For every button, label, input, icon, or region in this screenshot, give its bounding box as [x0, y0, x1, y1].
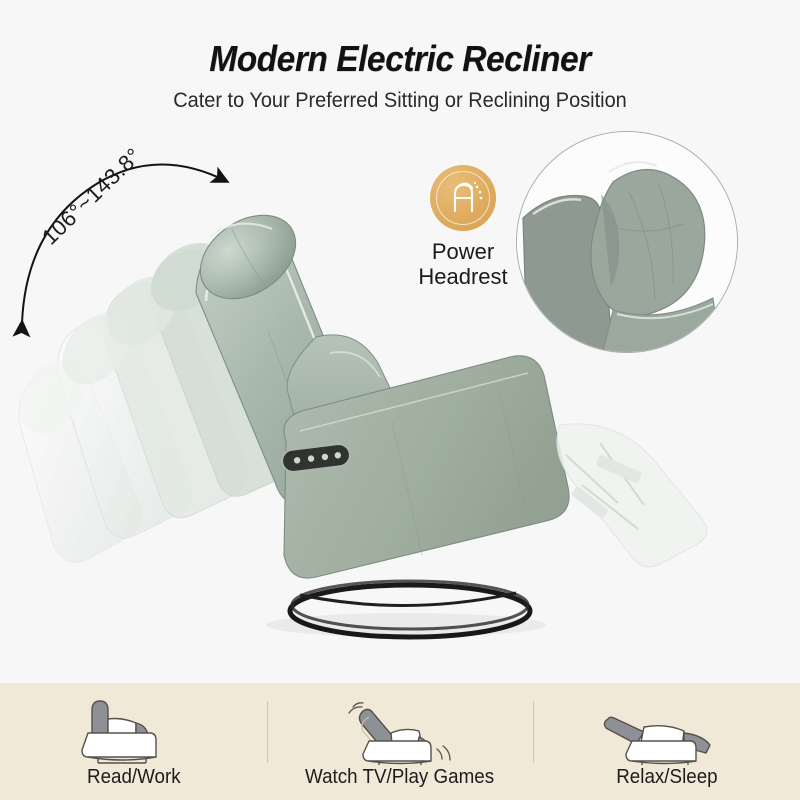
power-headrest-label-line2: Headrest: [418, 264, 507, 289]
chair-upright-icon: [58, 693, 208, 765]
page-title: Modern Electric Recliner: [28, 38, 772, 80]
feature-strip: Read/Work Watch TV/Play Games: [0, 683, 800, 800]
header: Modern Electric Recliner Cater to Your P…: [0, 0, 800, 125]
feature-caption: Relax/Sleep: [616, 766, 717, 789]
feature-item-watch-tv-play-games[interactable]: Watch TV/Play Games: [267, 683, 534, 800]
hero-product-stage: 106°~143.8° Power Headrest: [0, 125, 800, 683]
power-headrest-label-line1: Power: [432, 239, 494, 264]
feature-item-relax-sleep[interactable]: Relax/Sleep: [533, 683, 800, 800]
feature-caption: Watch TV/Play Games: [305, 766, 494, 789]
power-headrest-label: Power Headrest: [389, 240, 537, 290]
power-headrest-badge-icon: [430, 165, 496, 231]
chair-flat-icon: [592, 693, 742, 765]
page-subtitle: Cater to Your Preferred Sitting or Recli…: [20, 89, 780, 113]
chair-reclined-icon: [325, 693, 475, 765]
headrest-closeup-photo: [516, 131, 738, 353]
feature-caption: Read/Work: [86, 766, 180, 789]
footrest-ghost: [557, 424, 707, 567]
power-headrest-feature: Power Headrest: [389, 165, 537, 290]
feature-item-read-work[interactable]: Read/Work: [0, 683, 267, 800]
